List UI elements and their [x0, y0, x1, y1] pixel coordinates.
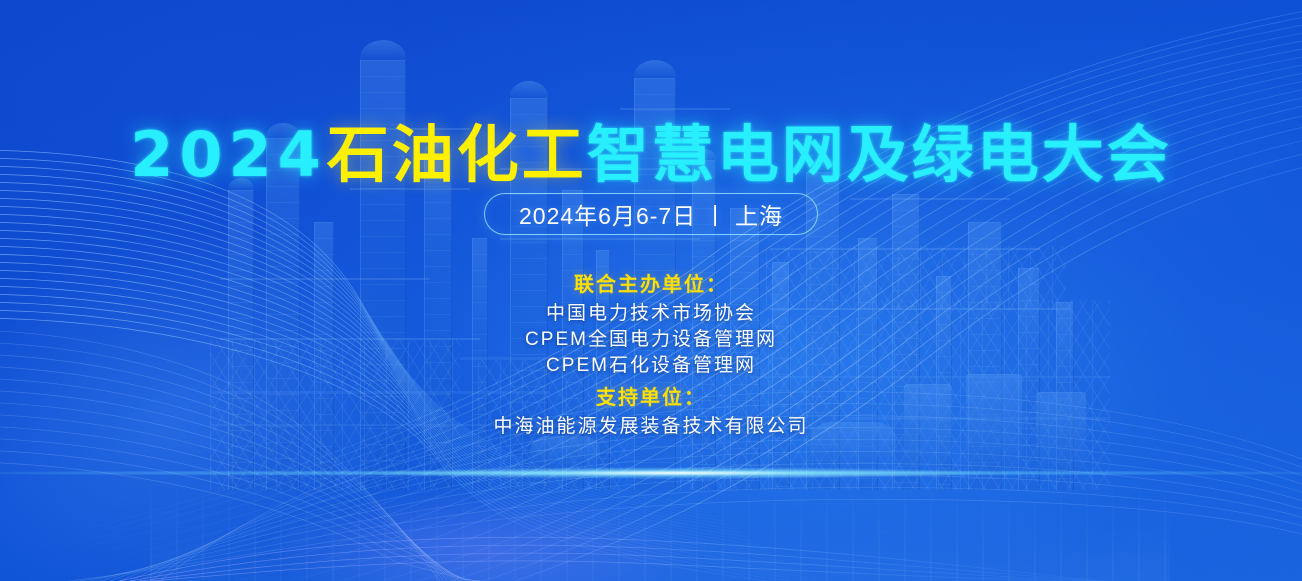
supporter-item-0: 中海油能源发展装备技术有限公司	[0, 414, 1302, 440]
supporters-heading: 支持单位：	[0, 385, 1302, 411]
organizers-heading: 联合主办单位：	[0, 272, 1302, 298]
organizer-item-2: CPEM石化设备管理网	[0, 353, 1302, 379]
title-cyan-segment: 智慧电网及绿电大会	[587, 118, 1172, 191]
organizer-item-0: 中国电力技术市场协会	[0, 301, 1302, 327]
date-location-text: 2024年6月6-7日 丨 上海	[519, 197, 783, 231]
organizer-item-1: CPEM全国电力设备管理网	[0, 327, 1302, 353]
banner-content: 2024石油化工智慧电网及绿电大会 2024年6月6-7日 丨 上海 联合主办单…	[0, 0, 1302, 581]
title-year: 2024	[130, 118, 327, 191]
conference-banner: 2024石油化工智慧电网及绿电大会 2024年6月6-7日 丨 上海 联合主办单…	[0, 0, 1302, 581]
page-title: 2024石油化工智慧电网及绿电大会	[0, 124, 1302, 186]
supporters-block: 支持单位： 中海油能源发展装备技术有限公司	[0, 385, 1302, 440]
date-location-badge: 2024年6月6-7日 丨 上海	[484, 193, 818, 235]
organizers-block: 联合主办单位： 中国电力技术市场协会 CPEM全国电力设备管理网 CPEM石化设…	[0, 272, 1302, 379]
title-yellow-segment: 石油化工	[327, 118, 587, 191]
